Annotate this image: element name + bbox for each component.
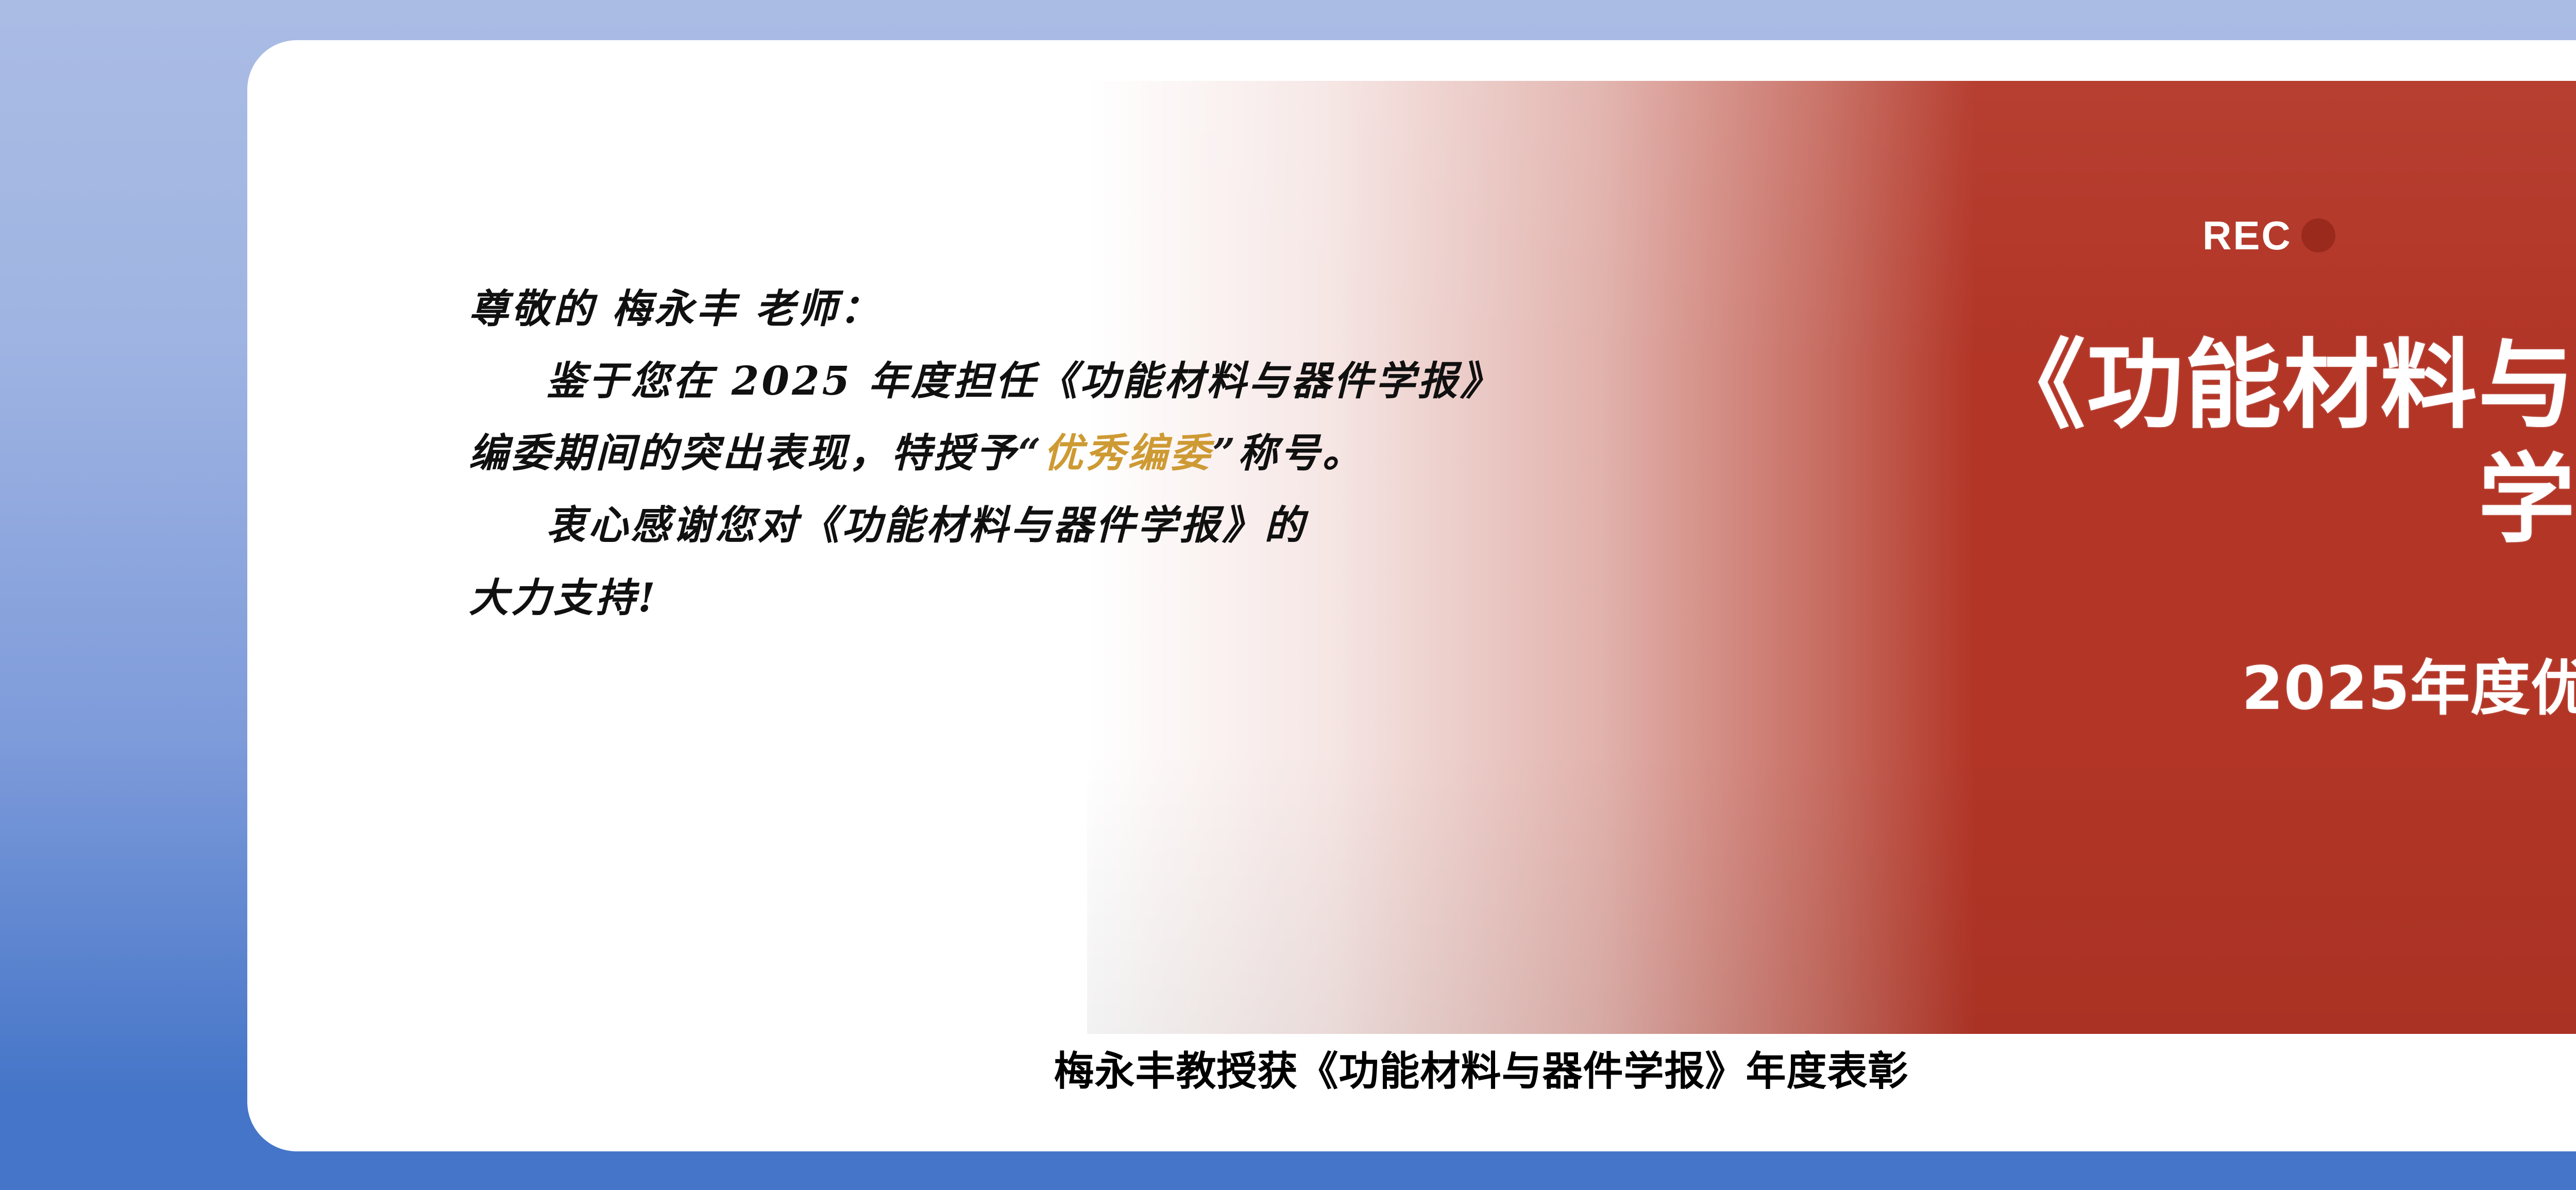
record-dot-icon	[2301, 218, 2335, 252]
card-caption: 梅永丰教授获《功能材料与器件学报》年度表彰	[247, 1050, 2576, 1094]
letter-salutation: 尊敬的 梅永丰 老师：	[469, 273, 1571, 345]
letter-p1-text-b: 称号。	[1238, 430, 1365, 477]
rec-badge: REC	[2202, 215, 2335, 256]
award-card: REC 《功能材料与器件 学报》 2025年度优秀表彰 尊敬的 梅永丰 老师： …	[247, 40, 2576, 1151]
letter-paragraph-1-line-2: 编委期间的突出表现，特授予“优秀编委”称号。	[469, 417, 1571, 489]
journal-subtitle: 2025年度优秀表彰	[1571, 654, 2576, 723]
letter-body: 尊敬的 梅永丰 老师： 鉴于您在 2025 年度担任《功能材料与器件学报》 编委…	[469, 273, 1571, 634]
journal-title-line-2: 学报》	[1571, 443, 2576, 557]
close-quote-mark: ”	[1212, 430, 1238, 477]
open-quote-mark: “	[1018, 430, 1043, 477]
letter-p1-text-a: 编委期间的突出表现，特授予	[469, 430, 1018, 477]
journal-title: 《功能材料与器件 学报》	[1571, 329, 2576, 557]
rec-label: REC	[2202, 215, 2292, 256]
letter-paragraph-2-line-2: 大力支持!	[469, 562, 1571, 634]
journal-title-line-1: 《功能材料与器件	[1571, 329, 2576, 443]
award-title-highlight: 优秀编委	[1043, 430, 1212, 477]
letter-paragraph-1-line-1: 鉴于您在 2025 年度担任《功能材料与器件学报》	[469, 345, 1571, 417]
letter-paragraph-2-line-1: 衷心感谢您对《功能材料与器件学报》的	[469, 489, 1571, 562]
